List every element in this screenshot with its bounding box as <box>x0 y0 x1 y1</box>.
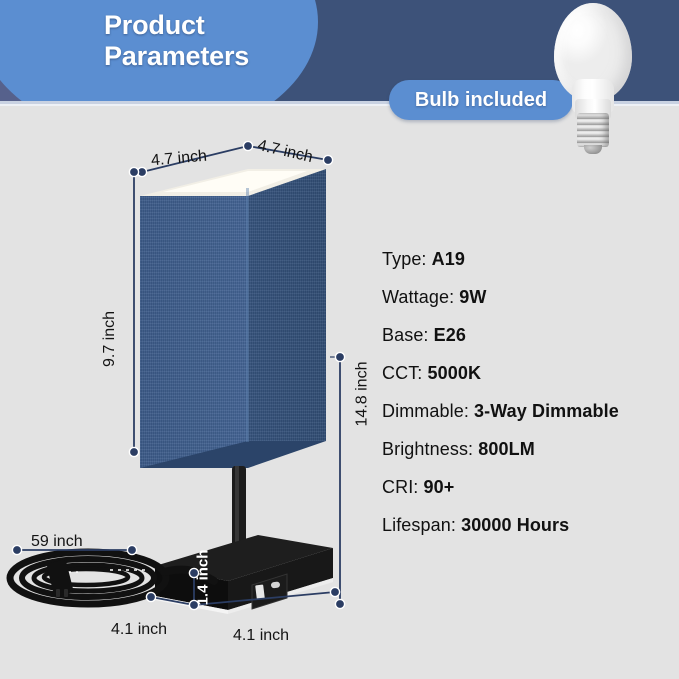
usb-a-port-icon <box>255 585 265 600</box>
spec-value-lifespan: 30000 Hours <box>461 515 569 535</box>
spec-value-brightness: 800LM <box>478 439 535 459</box>
spec-value-dimmable: 3-Way Dimmable <box>474 401 619 421</box>
spec-row-cri: CRI: 90+ <box>382 477 672 498</box>
lamp-base-side-face <box>228 548 333 610</box>
spec-key-cri: CRI: <box>382 477 418 497</box>
lamp-base-top-face <box>155 535 333 581</box>
spec-key-dimmable: Dimmable: <box>382 401 469 421</box>
spec-value-wattage: 9W <box>459 287 486 307</box>
port-panel <box>252 574 287 609</box>
product-parameters-infographic: Product Parameters Bulb included <box>0 0 679 679</box>
spec-value-cct: 5000K <box>428 363 482 383</box>
lamp-base-front-face <box>155 566 228 610</box>
lamp-shade-front-face <box>140 196 248 468</box>
spec-key-brightness: Brightness: <box>382 439 473 459</box>
spec-key-wattage: Wattage: <box>382 287 454 307</box>
dimension-label-shade-width-front: 4.7 inch <box>150 148 207 171</box>
bulb-screw-base <box>577 113 609 147</box>
spec-row-base: Base: E26 <box>382 325 672 346</box>
power-plug-icon <box>46 559 74 597</box>
dimension-label-shade-height: 9.7 inch <box>101 311 119 367</box>
lamp-shade-side-face <box>248 169 326 441</box>
dimension-label-base-depth: 4.1 inch <box>111 621 167 639</box>
lamp-base-bottom-edge-left <box>155 596 228 614</box>
spec-value-type: A19 <box>432 249 465 269</box>
spec-row-wattage: Wattage: 9W <box>382 287 672 308</box>
spec-key-lifespan: Lifespan: <box>382 515 456 535</box>
dimension-label-lamp-total-height: 14.8 inch <box>353 362 371 427</box>
light-bulb-icon <box>546 3 642 155</box>
usb-c-port-icon <box>271 581 281 588</box>
spec-row-type: Type: A19 <box>382 249 672 270</box>
spec-row-lifespan: Lifespan: 30000 Hours <box>382 515 672 536</box>
power-cord-icon <box>10 552 214 604</box>
spec-key-base: Base: <box>382 325 429 345</box>
lamp-stem <box>232 466 246 546</box>
lamp-base-bottom-edge-right <box>228 578 333 614</box>
spec-value-base: E26 <box>434 325 466 345</box>
lamp-stem-highlight <box>235 466 239 546</box>
dimension-label-base-height: 1.4 inch <box>194 550 211 606</box>
dimension-label-cord-length: 59 inch <box>31 533 83 551</box>
specification-list: Type: A19 Wattage: 9W Base: E26 CCT: 500… <box>382 249 672 553</box>
dimension-label-base-width: 4.1 inch <box>233 627 289 645</box>
spec-row-cct: CCT: 5000K <box>382 363 672 384</box>
spec-row-dimmable: Dimmable: 3-Way Dimmable <box>382 401 672 422</box>
bulb-contact-tip <box>584 145 602 154</box>
page-title: Product Parameters <box>104 10 249 72</box>
spec-key-cct: CCT: <box>382 363 422 383</box>
spec-row-brightness: Brightness: 800LM <box>382 439 672 460</box>
spec-key-type: Type: <box>382 249 427 269</box>
spec-value-cri: 90+ <box>424 477 455 497</box>
dimension-label-shade-width-side: 4.7 inch <box>256 137 315 167</box>
